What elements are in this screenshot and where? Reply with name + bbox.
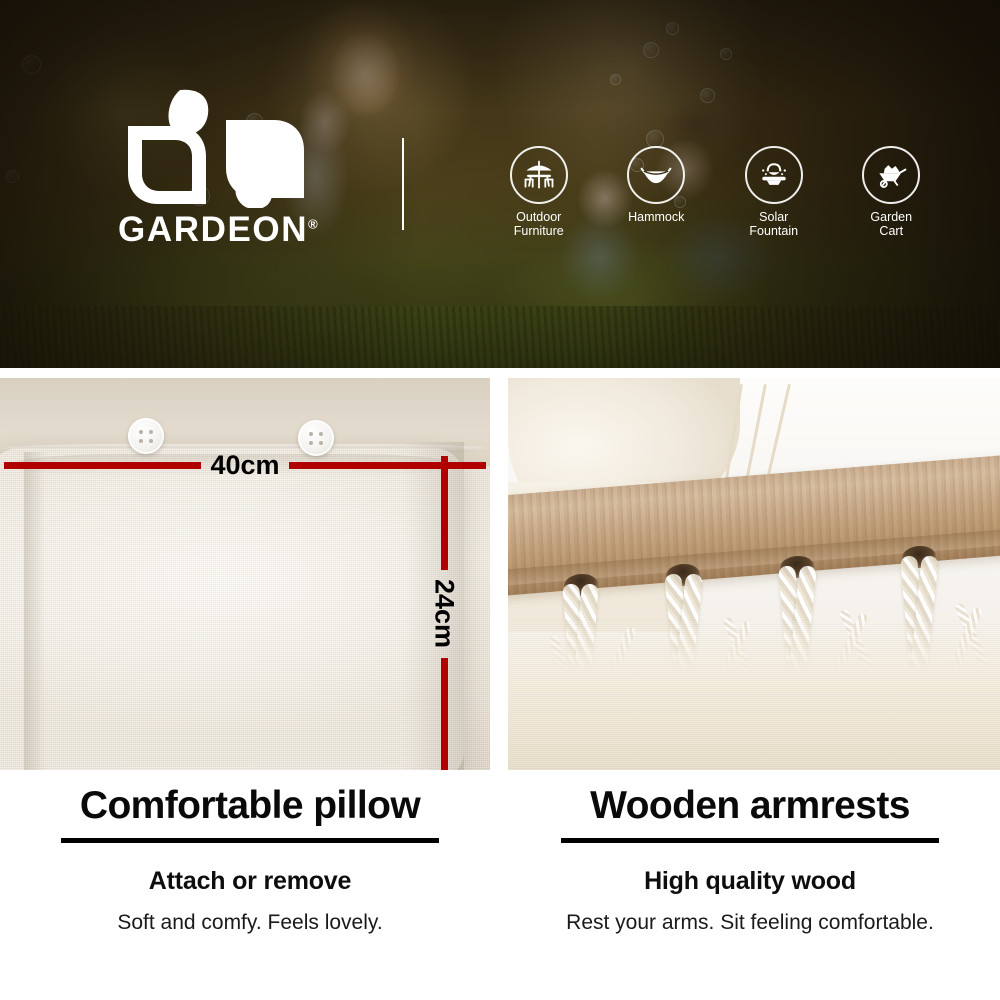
caption-body: Rest your arms. Sit feeling comfortable. <box>500 910 1000 936</box>
width-dimension: 40cm <box>4 454 486 476</box>
category-solar-fountain[interactable]: SolarFountain <box>715 146 833 266</box>
height-dimension: 24cm <box>424 456 464 770</box>
caption-armrests: Wooden armrests High quality wood Rest y… <box>500 782 1000 936</box>
category-outdoor-furniture[interactable]: OutdoorFurniture <box>480 146 598 266</box>
height-label: 24cm <box>431 570 458 657</box>
brand-name: GARDEON <box>118 210 308 249</box>
pillow-photo-panel: 40cm 24cm <box>0 378 490 770</box>
pillow <box>0 448 464 770</box>
brand-wordmark: GARDEON® <box>118 212 328 247</box>
logo-divider <box>402 138 404 230</box>
caption-subheading: High quality wood <box>500 866 1000 896</box>
wooden-armrest-photo-panel <box>508 378 1000 770</box>
outdoor-furniture-icon <box>510 146 568 204</box>
caption-underline <box>61 838 439 843</box>
pillow-button <box>298 420 334 456</box>
registered-mark: ® <box>308 216 318 231</box>
caption-body: Soft and comfy. Feels lovely. <box>0 910 500 936</box>
product-infographic: GARDEON® <box>0 0 1000 1000</box>
brand-banner: GARDEON® <box>0 0 1000 368</box>
category-label: SolarFountain <box>749 211 798 238</box>
category-garden-cart[interactable]: GardenCart <box>833 146 951 266</box>
solar-fountain-icon <box>745 146 803 204</box>
hammock-icon <box>627 146 685 204</box>
dimension-line <box>441 456 448 570</box>
caption-heading: Comfortable pillow <box>0 782 500 830</box>
dimension-line <box>4 462 201 469</box>
category-label: Hammock <box>628 211 684 225</box>
dimension-line <box>441 658 448 770</box>
category-icon-row: OutdoorFurniture Hammock <box>480 146 950 266</box>
pillow-weave-texture <box>0 448 464 770</box>
caption-underline <box>561 838 939 843</box>
category-hammock[interactable]: Hammock <box>598 146 716 266</box>
caption-subheading: Attach or remove <box>0 866 500 896</box>
hammock-canvas-bed <box>508 620 1000 770</box>
brand-logo: GARDEON® <box>118 86 318 266</box>
double-leaf-logo-icon <box>118 86 314 208</box>
caption-row: Comfortable pillow Attach or remove Soft… <box>0 782 1000 1000</box>
pillow-left-shadow <box>24 452 46 770</box>
garden-cart-icon <box>862 146 920 204</box>
feature-image-row: 40cm 24cm <box>0 378 1000 770</box>
pillow-button <box>128 418 164 454</box>
category-label: GardenCart <box>870 211 912 238</box>
width-label: 40cm <box>201 452 288 479</box>
caption-pillow: Comfortable pillow Attach or remove Soft… <box>0 782 500 936</box>
category-label: OutdoorFurniture <box>514 211 564 238</box>
caption-heading: Wooden armrests <box>500 782 1000 830</box>
